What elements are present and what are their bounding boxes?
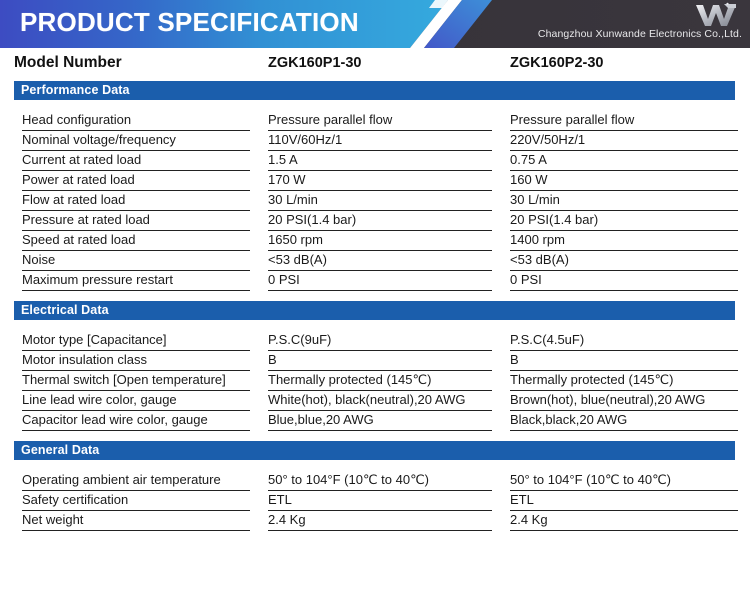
row-value-model1: Blue,blue,20 AWG [268,411,492,431]
row-label: Current at rated load [22,151,250,171]
row-value-model2: 30 L/min [510,191,738,211]
specification-sheet: Model Number ZGK160P1-30 ZGK160P2-30 Per… [0,48,750,555]
row-label: Speed at rated load [22,231,250,251]
table-row: Speed at rated load 1650 rpm 1400 rpm [0,231,750,251]
row-value-model1: 2.4 Kg [268,511,492,531]
row-value-model1: 170 W [268,171,492,191]
table-row: Operating ambient air temperature 50° to… [0,471,750,491]
row-value-model2: P.S.C(4.5uF) [510,331,738,351]
row-value-model1: P.S.C(9uF) [268,331,492,351]
company-name: Changzhou Xunwande Electronics Co.,Ltd. [538,28,742,40]
row-value-model1: B [268,351,492,371]
performance-data-table: Head configuration Pressure parallel flo… [0,111,750,291]
row-value-model2: Brown(hot), blue(neutral),20 AWG [510,391,738,411]
section-spacer [0,291,750,301]
section-title: Electrical Data [14,304,109,317]
page-bottom-spacer [0,531,750,555]
table-row: Pressure at rated load 20 PSI(1.4 bar) 2… [0,211,750,231]
row-value-model1: 110V/60Hz/1 [268,131,492,151]
row-value-model2: <53 dB(A) [510,251,738,271]
section-spacer [0,100,750,111]
row-value-model2: Thermally protected (145℃) [510,371,738,391]
row-value-model2: Black,black,20 AWG [510,411,738,431]
row-label: Safety certification [22,491,250,511]
table-row: Motor type [Capacitance] P.S.C(9uF) P.S.… [0,331,750,351]
row-value-model2: 20 PSI(1.4 bar) [510,211,738,231]
row-value-model2: 220V/50Hz/1 [510,131,738,151]
row-label: Line lead wire color, gauge [22,391,250,411]
model-number-value-1: ZGK160P1-30 [268,55,362,71]
table-row: Maximum pressure restart 0 PSI 0 PSI [0,271,750,291]
row-value-model2: Pressure parallel flow [510,111,738,131]
row-value-model2: 50° to 104°F (10℃ to 40℃) [510,471,738,491]
row-label: Operating ambient air temperature [22,471,250,491]
table-row: Net weight 2.4 Kg 2.4 Kg [0,511,750,531]
row-label: Motor insulation class [22,351,250,371]
row-value-model2: 0 PSI [510,271,738,291]
row-value-model2: 1400 rpm [510,231,738,251]
model-number-row: Model Number ZGK160P1-30 ZGK160P2-30 [0,48,750,81]
row-value-model1: Thermally protected (145℃) [268,371,492,391]
table-row: Current at rated load 1.5 A 0.75 A [0,151,750,171]
table-row: Noise <53 dB(A) <53 dB(A) [0,251,750,271]
row-label: Flow at rated load [22,191,250,211]
page-header-banner: PRODUCT SPECIFICATION Changzhou Xunwande… [0,0,750,48]
table-row: Flow at rated load 30 L/min 30 L/min [0,191,750,211]
model-number-value-2: ZGK160P2-30 [510,55,604,71]
row-label: Noise [22,251,250,271]
row-value-model2: ETL [510,491,738,511]
row-value-model1: 0 PSI [268,271,492,291]
row-value-model1: <53 dB(A) [268,251,492,271]
row-label: Pressure at rated load [22,211,250,231]
section-header-performance-data: Performance Data [14,81,735,100]
row-label: Capacitor lead wire color, gauge [22,411,250,431]
section-header-general-data: General Data [14,441,735,460]
model-number-label: Model Number [14,54,122,72]
company-logo-icon [694,2,738,28]
row-value-model1: 50° to 104°F (10℃ to 40℃) [268,471,492,491]
row-value-model1: White(hot), black(neutral),20 AWG [268,391,492,411]
row-label: Nominal voltage/frequency [22,131,250,151]
section-spacer [0,431,750,441]
row-value-model1: 20 PSI(1.4 bar) [268,211,492,231]
section-header-electrical-data: Electrical Data [14,301,735,320]
row-label: Maximum pressure restart [22,271,250,291]
table-row: Safety certification ETL ETL [0,491,750,511]
row-label: Thermal switch [Open temperature] [22,371,250,391]
row-value-model1: 30 L/min [268,191,492,211]
row-label: Motor type [Capacitance] [22,331,250,351]
general-data-table: Operating ambient air temperature 50° to… [0,471,750,531]
table-row: Power at rated load 170 W 160 W [0,171,750,191]
table-row: Nominal voltage/frequency 110V/60Hz/1 22… [0,131,750,151]
row-value-model1: 1.5 A [268,151,492,171]
row-value-model2: 0.75 A [510,151,738,171]
page-title: PRODUCT SPECIFICATION [20,7,359,38]
row-value-model1: 1650 rpm [268,231,492,251]
table-row: Thermal switch [Open temperature] Therma… [0,371,750,391]
row-label: Net weight [22,511,250,531]
table-row: Line lead wire color, gauge White(hot), … [0,391,750,411]
table-row: Capacitor lead wire color, gauge Blue,bl… [0,411,750,431]
row-value-model2: 160 W [510,171,738,191]
row-value-model2: B [510,351,738,371]
table-row: Motor insulation class B B [0,351,750,371]
section-title: General Data [14,444,99,457]
table-row: Head configuration Pressure parallel flo… [0,111,750,131]
section-spacer [0,460,750,471]
row-label: Head configuration [22,111,250,131]
row-value-model1: Pressure parallel flow [268,111,492,131]
electrical-data-table: Motor type [Capacitance] P.S.C(9uF) P.S.… [0,331,750,431]
section-spacer [0,320,750,331]
row-value-model1: ETL [268,491,492,511]
row-label: Power at rated load [22,171,250,191]
row-value-model2: 2.4 Kg [510,511,738,531]
section-title: Performance Data [14,84,130,97]
